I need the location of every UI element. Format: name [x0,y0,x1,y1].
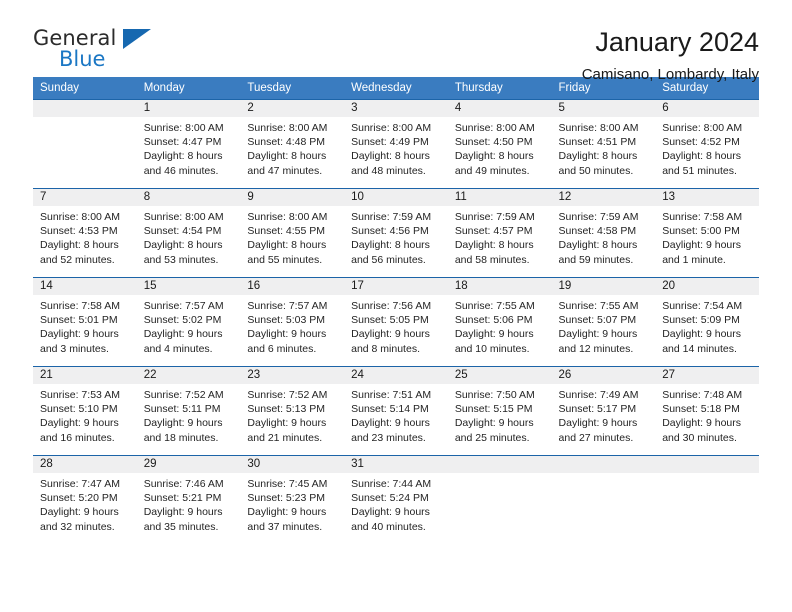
daylight-text-line1: Daylight: 9 hours [144,327,235,341]
daylight-text-line2: and 23 minutes. [351,431,442,445]
sunset-text: Sunset: 5:21 PM [144,491,235,505]
day-cell-inner: 12Sunrise: 7:59 AMSunset: 4:58 PMDayligh… [552,189,656,277]
day-number: 25 [448,367,552,384]
sunrise-text: Sunrise: 7:59 AM [455,210,546,224]
sunset-text: Sunset: 5:17 PM [559,402,650,416]
day-number: 26 [552,367,656,384]
sunrise-text: Sunrise: 7:49 AM [559,388,650,402]
calendar-week-row: 7Sunrise: 8:00 AMSunset: 4:53 PMDaylight… [33,189,759,278]
calendar-day-cell[interactable]: 29Sunrise: 7:46 AMSunset: 5:21 PMDayligh… [137,456,241,545]
day-details: Sunrise: 8:00 AMSunset: 4:49 PMDaylight:… [344,117,448,178]
sunrise-text: Sunrise: 8:00 AM [455,121,546,135]
day-cell-inner [655,456,759,545]
day-cell-inner: 5Sunrise: 8:00 AMSunset: 4:51 PMDaylight… [552,100,656,188]
day-cell-inner: 22Sunrise: 7:52 AMSunset: 5:11 PMDayligh… [137,367,241,455]
day-number: 11 [448,189,552,206]
day-details: Sunrise: 7:49 AMSunset: 5:17 PMDaylight:… [552,384,656,445]
sunrise-text: Sunrise: 8:00 AM [40,210,131,224]
daylight-text-line2: and 16 minutes. [40,431,131,445]
day-number: 28 [33,456,137,473]
sunset-text: Sunset: 4:48 PM [247,135,338,149]
day-details: Sunrise: 7:59 AMSunset: 4:57 PMDaylight:… [448,206,552,267]
day-details: Sunrise: 8:00 AMSunset: 4:54 PMDaylight:… [137,206,241,267]
day-details: Sunrise: 8:00 AMSunset: 4:52 PMDaylight:… [655,117,759,178]
day-cell-inner: 17Sunrise: 7:56 AMSunset: 5:05 PMDayligh… [344,278,448,366]
sunset-text: Sunset: 4:57 PM [455,224,546,238]
sunrise-text: Sunrise: 7:50 AM [455,388,546,402]
day-cell-inner: 2Sunrise: 8:00 AMSunset: 4:48 PMDaylight… [240,100,344,188]
day-cell-inner: 26Sunrise: 7:49 AMSunset: 5:17 PMDayligh… [552,367,656,455]
calendar-day-cell[interactable]: 27Sunrise: 7:48 AMSunset: 5:18 PMDayligh… [655,367,759,456]
daylight-text-line2: and 14 minutes. [662,342,753,356]
sunrise-text: Sunrise: 7:54 AM [662,299,753,313]
calendar-day-cell-empty [655,456,759,545]
daylight-text-line1: Daylight: 9 hours [351,327,442,341]
sunrise-text: Sunrise: 8:00 AM [247,121,338,135]
day-details: Sunrise: 7:58 AMSunset: 5:00 PMDaylight:… [655,206,759,267]
sunrise-text: Sunrise: 7:57 AM [247,299,338,313]
sunrise-text: Sunrise: 7:58 AM [40,299,131,313]
calendar-day-cell-empty [448,456,552,545]
calendar-day-cell[interactable]: 20Sunrise: 7:54 AMSunset: 5:09 PMDayligh… [655,278,759,367]
day-number: 6 [655,100,759,117]
day-cell-inner [33,100,137,188]
calendar-week-row: 1Sunrise: 8:00 AMSunset: 4:47 PMDaylight… [33,100,759,189]
day-number: 23 [240,367,344,384]
daylight-text-line1: Daylight: 8 hours [559,149,650,163]
calendar-day-cell[interactable]: 4Sunrise: 8:00 AMSunset: 4:50 PMDaylight… [448,100,552,189]
sunset-text: Sunset: 4:51 PM [559,135,650,149]
day-cell-inner: 19Sunrise: 7:55 AMSunset: 5:07 PMDayligh… [552,278,656,366]
sunset-text: Sunset: 5:00 PM [662,224,753,238]
calendar-day-cell-empty [552,456,656,545]
day-details: Sunrise: 7:59 AMSunset: 4:58 PMDaylight:… [552,206,656,267]
day-details: Sunrise: 7:48 AMSunset: 5:18 PMDaylight:… [655,384,759,445]
sunset-text: Sunset: 5:23 PM [247,491,338,505]
day-cell-inner: 3Sunrise: 8:00 AMSunset: 4:49 PMDaylight… [344,100,448,188]
day-details: Sunrise: 8:00 AMSunset: 4:47 PMDaylight:… [137,117,241,178]
day-cell-inner: 15Sunrise: 7:57 AMSunset: 5:02 PMDayligh… [137,278,241,366]
calendar-day-cell[interactable]: 23Sunrise: 7:52 AMSunset: 5:13 PMDayligh… [240,367,344,456]
day-details: Sunrise: 7:55 AMSunset: 5:07 PMDaylight:… [552,295,656,356]
daylight-text-line2: and 40 minutes. [351,520,442,534]
daylight-text-line1: Daylight: 8 hours [144,238,235,252]
day-number: 5 [552,100,656,117]
day-number: 8 [137,189,241,206]
calendar-day-cell[interactable]: 3Sunrise: 8:00 AMSunset: 4:49 PMDaylight… [344,100,448,189]
weekday-header-wednesday: Wednesday [344,77,448,100]
day-details: Sunrise: 8:00 AMSunset: 4:50 PMDaylight:… [448,117,552,178]
sunset-text: Sunset: 4:50 PM [455,135,546,149]
sunset-text: Sunset: 5:13 PM [247,402,338,416]
sunrise-text: Sunrise: 7:44 AM [351,477,442,491]
calendar-day-cell[interactable]: 22Sunrise: 7:52 AMSunset: 5:11 PMDayligh… [137,367,241,456]
sunrise-text: Sunrise: 8:00 AM [144,210,235,224]
daylight-text-line1: Daylight: 9 hours [40,416,131,430]
day-number [448,456,552,473]
sunset-text: Sunset: 5:02 PM [144,313,235,327]
daylight-text-line1: Daylight: 8 hours [455,238,546,252]
calendar-day-cell[interactable]: 2Sunrise: 8:00 AMSunset: 4:48 PMDaylight… [240,100,344,189]
calendar-day-cell[interactable]: 15Sunrise: 7:57 AMSunset: 5:02 PMDayligh… [137,278,241,367]
daylight-text-line1: Daylight: 8 hours [247,149,338,163]
day-number: 21 [33,367,137,384]
day-number: 1 [137,100,241,117]
day-number: 16 [240,278,344,295]
sunrise-text: Sunrise: 7:56 AM [351,299,442,313]
daylight-text-line2: and 12 minutes. [559,342,650,356]
daylight-text-line2: and 1 minute. [662,253,753,267]
sunset-text: Sunset: 5:11 PM [144,402,235,416]
day-details: Sunrise: 7:44 AMSunset: 5:24 PMDaylight:… [344,473,448,534]
day-details: Sunrise: 7:45 AMSunset: 5:23 PMDaylight:… [240,473,344,534]
sunset-text: Sunset: 4:55 PM [247,224,338,238]
daylight-text-line1: Daylight: 9 hours [662,416,753,430]
day-details: Sunrise: 7:56 AMSunset: 5:05 PMDaylight:… [344,295,448,356]
sunset-text: Sunset: 5:03 PM [247,313,338,327]
day-number: 18 [448,278,552,295]
day-number: 13 [655,189,759,206]
calendar-day-cell[interactable]: 26Sunrise: 7:49 AMSunset: 5:17 PMDayligh… [552,367,656,456]
sunset-text: Sunset: 5:09 PM [662,313,753,327]
daylight-text-line2: and 6 minutes. [247,342,338,356]
daylight-text-line1: Daylight: 8 hours [662,149,753,163]
daylight-text-line2: and 35 minutes. [144,520,235,534]
calendar-day-cell[interactable]: 1Sunrise: 8:00 AMSunset: 4:47 PMDaylight… [137,100,241,189]
day-cell-inner: 8Sunrise: 8:00 AMSunset: 4:54 PMDaylight… [137,189,241,277]
day-cell-inner: 28Sunrise: 7:47 AMSunset: 5:20 PMDayligh… [33,456,137,545]
day-number: 12 [552,189,656,206]
day-cell-inner: 18Sunrise: 7:55 AMSunset: 5:06 PMDayligh… [448,278,552,366]
day-cell-inner: 14Sunrise: 7:58 AMSunset: 5:01 PMDayligh… [33,278,137,366]
sunrise-text: Sunrise: 7:51 AM [351,388,442,402]
calendar-page: General Blue January 2024 Camisano, Lomb… [0,0,792,612]
day-number: 20 [655,278,759,295]
sunset-text: Sunset: 5:20 PM [40,491,131,505]
calendar-body: 1Sunrise: 8:00 AMSunset: 4:47 PMDaylight… [33,100,759,545]
calendar-day-cell[interactable]: 30Sunrise: 7:45 AMSunset: 5:23 PMDayligh… [240,456,344,545]
calendar-week-row: 21Sunrise: 7:53 AMSunset: 5:10 PMDayligh… [33,367,759,456]
day-cell-inner: 4Sunrise: 8:00 AMSunset: 4:50 PMDaylight… [448,100,552,188]
day-cell-inner: 31Sunrise: 7:44 AMSunset: 5:24 PMDayligh… [344,456,448,545]
day-details: Sunrise: 7:57 AMSunset: 5:02 PMDaylight:… [137,295,241,356]
daylight-text-line1: Daylight: 9 hours [455,416,546,430]
daylight-text-line1: Daylight: 9 hours [247,327,338,341]
sunrise-text: Sunrise: 7:52 AM [144,388,235,402]
calendar-day-cell[interactable]: 24Sunrise: 7:51 AMSunset: 5:14 PMDayligh… [344,367,448,456]
daylight-text-line1: Daylight: 9 hours [351,505,442,519]
weekday-header-sunday: Sunday [33,77,137,100]
sunrise-text: Sunrise: 7:46 AM [144,477,235,491]
sunrise-text: Sunrise: 7:58 AM [662,210,753,224]
day-cell-inner: 24Sunrise: 7:51 AMSunset: 5:14 PMDayligh… [344,367,448,455]
calendar-day-cell[interactable]: 5Sunrise: 8:00 AMSunset: 4:51 PMDaylight… [552,100,656,189]
sunrise-text: Sunrise: 8:00 AM [559,121,650,135]
day-number: 27 [655,367,759,384]
day-number: 14 [33,278,137,295]
sunrise-text: Sunrise: 8:00 AM [351,121,442,135]
daylight-text-line2: and 18 minutes. [144,431,235,445]
calendar-day-cell[interactable]: 14Sunrise: 7:58 AMSunset: 5:01 PMDayligh… [33,278,137,367]
day-details: Sunrise: 7:50 AMSunset: 5:15 PMDaylight:… [448,384,552,445]
day-cell-inner: 23Sunrise: 7:52 AMSunset: 5:13 PMDayligh… [240,367,344,455]
calendar-day-cell[interactable]: 10Sunrise: 7:59 AMSunset: 4:56 PMDayligh… [344,189,448,278]
sunset-text: Sunset: 5:06 PM [455,313,546,327]
weekday-header-monday: Monday [137,77,241,100]
sunset-text: Sunset: 5:05 PM [351,313,442,327]
sunrise-text: Sunrise: 7:53 AM [40,388,131,402]
daylight-text-line1: Daylight: 9 hours [351,416,442,430]
daylight-text-line1: Daylight: 9 hours [662,327,753,341]
day-details: Sunrise: 7:51 AMSunset: 5:14 PMDaylight:… [344,384,448,445]
daylight-text-line1: Daylight: 9 hours [559,327,650,341]
calendar-day-cell[interactable]: 11Sunrise: 7:59 AMSunset: 4:57 PMDayligh… [448,189,552,278]
day-cell-inner: 1Sunrise: 8:00 AMSunset: 4:47 PMDaylight… [137,100,241,188]
day-number: 10 [344,189,448,206]
daylight-text-line2: and 49 minutes. [455,164,546,178]
day-cell-inner [448,456,552,545]
calendar-day-cell[interactable]: 6Sunrise: 8:00 AMSunset: 4:52 PMDaylight… [655,100,759,189]
daylight-text-line2: and 53 minutes. [144,253,235,267]
sunset-text: Sunset: 5:01 PM [40,313,131,327]
daylight-text-line1: Daylight: 8 hours [144,149,235,163]
day-number: 17 [344,278,448,295]
sunrise-text: Sunrise: 8:00 AM [144,121,235,135]
daylight-text-line1: Daylight: 9 hours [144,416,235,430]
sunrise-text: Sunrise: 8:00 AM [247,210,338,224]
daylight-text-line2: and 21 minutes. [247,431,338,445]
day-number: 31 [344,456,448,473]
day-details: Sunrise: 8:00 AMSunset: 4:51 PMDaylight:… [552,117,656,178]
daylight-text-line1: Daylight: 8 hours [455,149,546,163]
day-details: Sunrise: 7:59 AMSunset: 4:56 PMDaylight:… [344,206,448,267]
day-cell-inner: 27Sunrise: 7:48 AMSunset: 5:18 PMDayligh… [655,367,759,455]
daylight-text-line2: and 52 minutes. [40,253,131,267]
daylight-text-line2: and 51 minutes. [662,164,753,178]
sunrise-text: Sunrise: 7:59 AM [559,210,650,224]
day-cell-inner: 25Sunrise: 7:50 AMSunset: 5:15 PMDayligh… [448,367,552,455]
daylight-text-line1: Daylight: 9 hours [40,505,131,519]
day-details: Sunrise: 7:55 AMSunset: 5:06 PMDaylight:… [448,295,552,356]
calendar-day-cell[interactable]: 13Sunrise: 7:58 AMSunset: 5:00 PMDayligh… [655,189,759,278]
sunrise-text: Sunrise: 7:57 AM [144,299,235,313]
day-cell-inner: 30Sunrise: 7:45 AMSunset: 5:23 PMDayligh… [240,456,344,545]
day-cell-inner: 11Sunrise: 7:59 AMSunset: 4:57 PMDayligh… [448,189,552,277]
daylight-text-line1: Daylight: 8 hours [559,238,650,252]
sunrise-text: Sunrise: 7:55 AM [455,299,546,313]
day-number: 2 [240,100,344,117]
day-cell-inner: 7Sunrise: 8:00 AMSunset: 4:53 PMDaylight… [33,189,137,277]
daylight-text-line2: and 25 minutes. [455,431,546,445]
day-cell-inner: 29Sunrise: 7:46 AMSunset: 5:21 PMDayligh… [137,456,241,545]
day-details: Sunrise: 7:52 AMSunset: 5:13 PMDaylight:… [240,384,344,445]
daylight-text-line1: Daylight: 8 hours [40,238,131,252]
page-title: January 2024 [582,26,759,58]
daylight-text-line2: and 8 minutes. [351,342,442,356]
day-number: 3 [344,100,448,117]
day-number [33,100,137,117]
sunrise-text: Sunrise: 8:00 AM [662,121,753,135]
day-number: 9 [240,189,344,206]
day-cell-inner [552,456,656,545]
sunset-text: Sunset: 4:49 PM [351,135,442,149]
sunrise-text: Sunrise: 7:48 AM [662,388,753,402]
calendar-day-cell[interactable]: 9Sunrise: 8:00 AMSunset: 4:55 PMDaylight… [240,189,344,278]
daylight-text-line2: and 55 minutes. [247,253,338,267]
calendar-week-row: 28Sunrise: 7:47 AMSunset: 5:20 PMDayligh… [33,456,759,545]
page-header: General Blue January 2024 Camisano, Lomb… [33,0,759,72]
day-number: 24 [344,367,448,384]
day-number [552,456,656,473]
daylight-text-line1: Daylight: 9 hours [559,416,650,430]
sunset-text: Sunset: 4:52 PM [662,135,753,149]
day-number: 4 [448,100,552,117]
calendar-day-cell[interactable]: 8Sunrise: 8:00 AMSunset: 4:54 PMDaylight… [137,189,241,278]
day-details: Sunrise: 7:58 AMSunset: 5:01 PMDaylight:… [33,295,137,356]
calendar-day-cell-empty [33,100,137,189]
daylight-text-line1: Daylight: 9 hours [455,327,546,341]
sunrise-text: Sunrise: 7:55 AM [559,299,650,313]
daylight-text-line1: Daylight: 9 hours [40,327,131,341]
daylight-text-line2: and 59 minutes. [559,253,650,267]
daylight-text-line2: and 50 minutes. [559,164,650,178]
day-cell-inner: 10Sunrise: 7:59 AMSunset: 4:56 PMDayligh… [344,189,448,277]
daylight-text-line1: Daylight: 9 hours [247,416,338,430]
sunset-text: Sunset: 5:15 PM [455,402,546,416]
daylight-text-line2: and 58 minutes. [455,253,546,267]
title-block: January 2024 Camisano, Lombardy, Italy [582,26,759,86]
day-number: 7 [33,189,137,206]
calendar-day-cell[interactable]: 31Sunrise: 7:44 AMSunset: 5:24 PMDayligh… [344,456,448,545]
daylight-text-line2: and 27 minutes. [559,431,650,445]
daylight-text-line2: and 37 minutes. [247,520,338,534]
daylight-text-line2: and 3 minutes. [40,342,131,356]
daylight-text-line2: and 32 minutes. [40,520,131,534]
daylight-text-line2: and 4 minutes. [144,342,235,356]
daylight-text-line1: Daylight: 8 hours [351,149,442,163]
triangle-flag-icon [123,29,151,49]
day-cell-inner: 20Sunrise: 7:54 AMSunset: 5:09 PMDayligh… [655,278,759,366]
calendar-day-cell[interactable]: 28Sunrise: 7:47 AMSunset: 5:20 PMDayligh… [33,456,137,545]
daylight-text-line2: and 10 minutes. [455,342,546,356]
day-number [655,456,759,473]
sunrise-text: Sunrise: 7:52 AM [247,388,338,402]
day-details: Sunrise: 7:52 AMSunset: 5:11 PMDaylight:… [137,384,241,445]
sunset-text: Sunset: 4:47 PM [144,135,235,149]
day-details: Sunrise: 8:00 AMSunset: 4:48 PMDaylight:… [240,117,344,178]
daylight-text-line2: and 47 minutes. [247,164,338,178]
calendar-day-cell[interactable]: 25Sunrise: 7:50 AMSunset: 5:15 PMDayligh… [448,367,552,456]
day-cell-inner: 6Sunrise: 8:00 AMSunset: 4:52 PMDaylight… [655,100,759,188]
calendar-day-cell[interactable]: 7Sunrise: 8:00 AMSunset: 4:53 PMDaylight… [33,189,137,278]
day-number: 29 [137,456,241,473]
sunrise-text: Sunrise: 7:45 AM [247,477,338,491]
sunset-text: Sunset: 5:07 PM [559,313,650,327]
day-details: Sunrise: 8:00 AMSunset: 4:53 PMDaylight:… [33,206,137,267]
day-cell-inner: 13Sunrise: 7:58 AMSunset: 5:00 PMDayligh… [655,189,759,277]
calendar-week-row: 14Sunrise: 7:58 AMSunset: 5:01 PMDayligh… [33,278,759,367]
sunrise-sunset-calendar: Sunday Monday Tuesday Wednesday Thursday… [33,77,759,545]
daylight-text-line2: and 56 minutes. [351,253,442,267]
sunset-text: Sunset: 5:10 PM [40,402,131,416]
day-details: Sunrise: 7:54 AMSunset: 5:09 PMDaylight:… [655,295,759,356]
calendar-day-cell[interactable]: 19Sunrise: 7:55 AMSunset: 5:07 PMDayligh… [552,278,656,367]
daylight-text-line1: Daylight: 8 hours [351,238,442,252]
day-number: 22 [137,367,241,384]
day-cell-inner: 16Sunrise: 7:57 AMSunset: 5:03 PMDayligh… [240,278,344,366]
weekday-header-tuesday: Tuesday [240,77,344,100]
logo-word-blue: Blue [59,47,105,71]
day-number: 19 [552,278,656,295]
daylight-text-line2: and 30 minutes. [662,431,753,445]
calendar-day-cell[interactable]: 12Sunrise: 7:59 AMSunset: 4:58 PMDayligh… [552,189,656,278]
sunrise-text: Sunrise: 7:47 AM [40,477,131,491]
daylight-text-line1: Daylight: 9 hours [662,238,753,252]
calendar-day-cell[interactable]: 16Sunrise: 7:57 AMSunset: 5:03 PMDayligh… [240,278,344,367]
sunrise-text: Sunrise: 7:59 AM [351,210,442,224]
daylight-text-line2: and 48 minutes. [351,164,442,178]
calendar-day-cell[interactable]: 21Sunrise: 7:53 AMSunset: 5:10 PMDayligh… [33,367,137,456]
day-details: Sunrise: 8:00 AMSunset: 4:55 PMDaylight:… [240,206,344,267]
daylight-text-line1: Daylight: 9 hours [144,505,235,519]
sunset-text: Sunset: 4:58 PM [559,224,650,238]
day-cell-inner: 21Sunrise: 7:53 AMSunset: 5:10 PMDayligh… [33,367,137,455]
daylight-text-line1: Daylight: 8 hours [247,238,338,252]
calendar-day-cell[interactable]: 17Sunrise: 7:56 AMSunset: 5:05 PMDayligh… [344,278,448,367]
sunset-text: Sunset: 5:14 PM [351,402,442,416]
daylight-text-line1: Daylight: 9 hours [247,505,338,519]
daylight-text-line2: and 46 minutes. [144,164,235,178]
day-number: 30 [240,456,344,473]
day-number: 15 [137,278,241,295]
day-details: Sunrise: 7:47 AMSunset: 5:20 PMDaylight:… [33,473,137,534]
sunset-text: Sunset: 5:18 PM [662,402,753,416]
day-details: Sunrise: 7:46 AMSunset: 5:21 PMDaylight:… [137,473,241,534]
weekday-header-thursday: Thursday [448,77,552,100]
sunset-text: Sunset: 4:53 PM [40,224,131,238]
sunset-text: Sunset: 4:54 PM [144,224,235,238]
day-details: Sunrise: 7:57 AMSunset: 5:03 PMDaylight:… [240,295,344,356]
day-details: Sunrise: 7:53 AMSunset: 5:10 PMDaylight:… [33,384,137,445]
sunset-text: Sunset: 4:56 PM [351,224,442,238]
calendar-day-cell[interactable]: 18Sunrise: 7:55 AMSunset: 5:06 PMDayligh… [448,278,552,367]
sunset-text: Sunset: 5:24 PM [351,491,442,505]
day-cell-inner: 9Sunrise: 8:00 AMSunset: 4:55 PMDaylight… [240,189,344,277]
general-blue-logo[interactable]: General Blue [33,26,148,78]
